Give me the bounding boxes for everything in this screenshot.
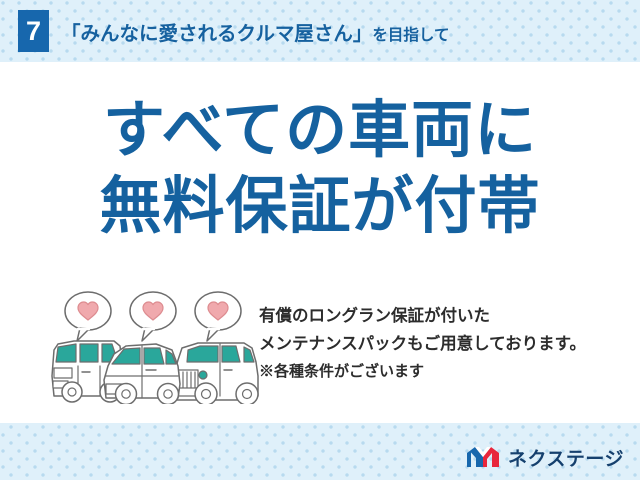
brand-wordmark: ネクステージ [508, 444, 624, 471]
speech-bubble-3 [195, 292, 241, 341]
speech-bubble-2 [130, 292, 176, 341]
footer-brand-logo: ネクステージ [466, 442, 624, 472]
nexstage-n-logo-icon [466, 445, 500, 469]
description-text: 有償のロングラン保証が付いた メンテナンスパックもご用意しております。 ※各種条… [259, 302, 631, 385]
car-minivan [104, 344, 180, 404]
headline: すべての車両に 無料保証が付帯 [0, 100, 640, 238]
headline-line-1: すべての車両に [0, 100, 640, 162]
car-suv [172, 343, 258, 404]
description-line-1: 有償のロングラン保証が付いた [259, 302, 631, 330]
header-title-main: 「みんなに愛されるクルマ屋さん」 [61, 17, 372, 46]
header-title-suffix: を目指して [372, 23, 449, 45]
cars-illustration-svg [48, 288, 262, 404]
three-cars-with-hearts-illustration [48, 288, 262, 404]
section-number-badge: 7 [18, 10, 49, 52]
lower-block: 有償のロングラン保証が付いた メンテナンスパックもご用意しております。 ※各種条… [0, 288, 640, 423]
header-title: 「みんなに愛されるクルマ屋さん」 を目指して [61, 17, 449, 46]
description-line-2: メンテナンスパックもご用意しております。 [259, 330, 631, 358]
header-bar: 7 「みんなに愛されるクルマ屋さん」 を目指して [0, 0, 640, 62]
speech-bubble-1 [65, 292, 111, 341]
description-note: ※各種条件がございます [259, 359, 631, 385]
headline-line-2: 無料保証が付帯 [0, 176, 640, 238]
content-panel: すべての車両に 無料保証が付帯 [0, 62, 640, 423]
